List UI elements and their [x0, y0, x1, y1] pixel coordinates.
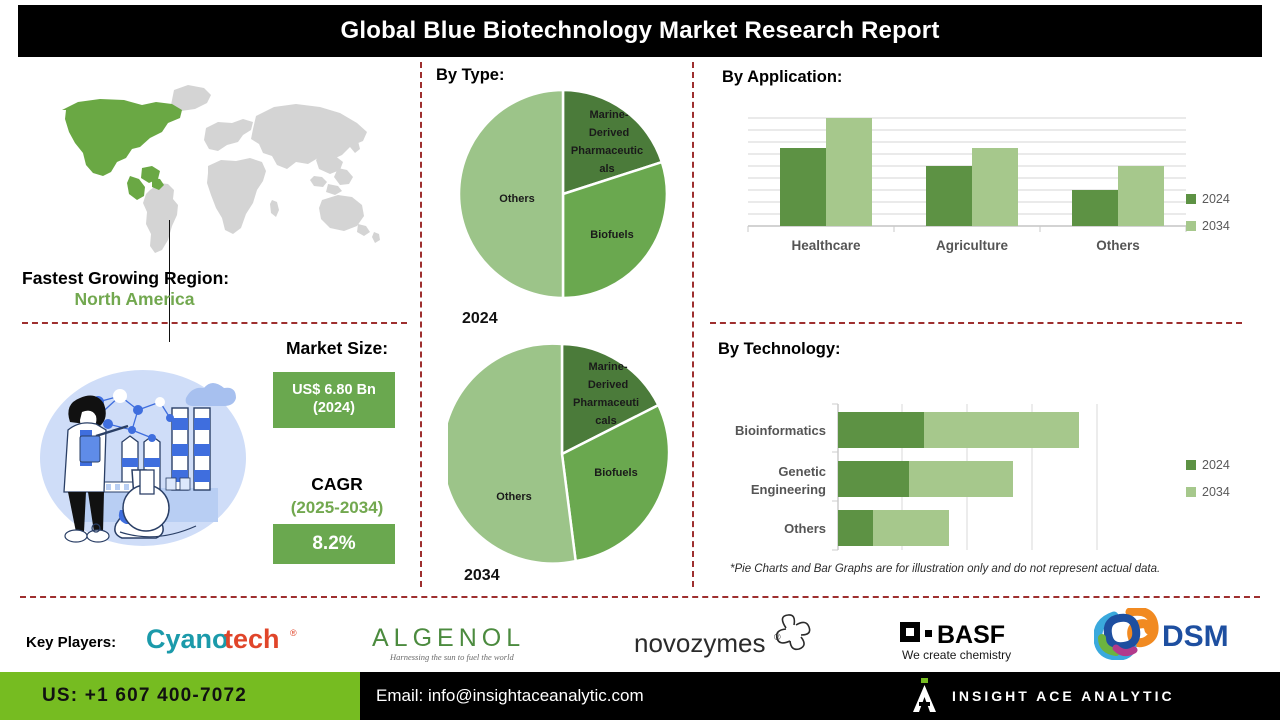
cagr-years: (2025-2034)	[262, 498, 412, 518]
divider-right-horizontal	[710, 322, 1242, 324]
legend-item-2034: 2034	[1186, 485, 1230, 499]
cat-label-healthcare: Healthcare	[791, 238, 861, 253]
pie-label-marine-4: als	[599, 163, 614, 175]
world-map	[22, 72, 402, 267]
logo-dsm: DSM	[1094, 608, 1264, 660]
logo-cyanotech-tm: ®	[290, 628, 297, 638]
bar-bioinformatics-2024	[838, 412, 924, 448]
market-size-year: (2024)	[292, 400, 376, 418]
logo-basf: BASF We create chemistry	[900, 618, 1040, 664]
cat-label-genetic-2: Engineering	[751, 482, 826, 497]
cagr-value-box: 8.2%	[273, 524, 395, 564]
cat-label-genetic-1: Genetic	[778, 464, 826, 479]
pie-label-marine-2: Derived	[588, 379, 628, 391]
application-chart-legend: 2024 2034	[1186, 192, 1230, 246]
legend-swatch-2034	[1186, 487, 1196, 497]
bar-genetic-engineering-2034	[909, 461, 1013, 497]
cat-label-bioinformatics: Bioinformatics	[735, 423, 826, 438]
novozymes-mark-icon	[777, 615, 810, 649]
divider-vertical-2	[692, 62, 694, 587]
pie-label-marine-3: Pharmaceutic	[571, 145, 643, 157]
logo-novozymes-name: novozymes	[634, 628, 766, 658]
infographic-page: Global Blue Biotechnology Market Researc…	[0, 0, 1280, 720]
legend-item-2024: 2024	[1186, 458, 1230, 472]
logo-basf-tagline: We create chemistry	[902, 648, 1011, 662]
pie-chart-2034: Marine- Derived Pharmaceuti cals Biofuel…	[448, 340, 676, 568]
cat-label-agriculture: Agriculture	[936, 238, 1009, 253]
market-size-title: Market Size:	[262, 338, 412, 359]
logo-cyanotech: Cyano tech ®	[146, 622, 316, 658]
bar-others-2024	[838, 510, 873, 546]
pie-slice-others	[448, 344, 576, 564]
bar-healthcare-2034	[826, 118, 872, 226]
bar-others-2034	[1118, 166, 1164, 226]
footer-phone: US: +1 607 400-7072	[0, 685, 247, 707]
logo-novozymes: novozymes ®	[634, 614, 814, 660]
bar-bioinformatics-2034	[924, 412, 1079, 448]
application-column-chart: Healthcare Agriculture Others	[716, 100, 1236, 260]
by-technology-title: By Technology:	[718, 340, 841, 359]
pie-label-others: Others	[499, 193, 534, 205]
by-application-title: By Application:	[722, 68, 842, 87]
fastest-growing-region: Fastest Growing Region: North America	[22, 268, 402, 310]
footer-email[interactable]: Email: info@insightaceanalytic.com	[360, 686, 644, 706]
footer-bar: US: +1 607 400-7072 Email: info@insighta…	[0, 672, 1280, 720]
legend-swatch-2024	[1186, 460, 1196, 470]
logo-algenol-name: ALGENOL	[372, 624, 525, 652]
pie-2024-year: 2024	[462, 310, 498, 328]
divider-bottom-horizontal	[20, 596, 1260, 598]
region-caption: Fastest Growing Region:	[22, 268, 402, 289]
footer-brand-block: INSIGHT ACE ANALYTIC	[910, 672, 1280, 720]
bar-healthcare-2024	[780, 148, 826, 226]
logo-cyanotech-part2: tech	[224, 624, 280, 654]
pie-chart-2024: Marine- Derived Pharmaceutic als Biofuel…	[455, 86, 671, 302]
footer-phone-block: US: +1 607 400-7072	[0, 672, 360, 720]
legend-label-2034: 2034	[1202, 219, 1230, 233]
laboratory-illustration	[36, 360, 251, 555]
logo-dsm-name: DSM	[1162, 620, 1229, 653]
bar-agriculture-2034	[972, 148, 1018, 226]
legend-label-2024: 2024	[1202, 192, 1230, 206]
market-size-value: US$ 6.80 Bn	[292, 382, 376, 400]
legend-item-2034: 2034	[1186, 219, 1230, 233]
divider-vertical-1	[420, 62, 422, 587]
bar-others-2034	[873, 510, 949, 546]
market-size-value-box: US$ 6.80 Bn (2024)	[273, 372, 395, 428]
legend-label-2034: 2034	[1202, 485, 1230, 499]
insight-ace-logo-icon	[910, 678, 940, 714]
pie-label-biofuels: Biofuels	[590, 229, 633, 241]
by-type-title: By Type:	[436, 66, 504, 85]
header-bar: Global Blue Biotechnology Market Researc…	[18, 5, 1262, 57]
cat-label-others: Others	[784, 521, 826, 536]
legend-swatch-2024	[1186, 194, 1196, 204]
technology-chart-legend: 2024 2034	[1186, 458, 1230, 512]
divider-left-horizontal	[22, 322, 407, 324]
logo-cyanotech-part1: Cyano	[146, 624, 229, 654]
footer-email-block: Email: info@insightaceanalytic.com	[360, 672, 910, 720]
technology-bar-chart: Bioinformatics Genetic Engineering Other…	[716, 390, 1236, 550]
bar-agriculture-2024	[926, 166, 972, 226]
legend-label-2024: 2024	[1202, 458, 1230, 472]
pie-label-others: Others	[496, 491, 531, 503]
page-title: Global Blue Biotechnology Market Researc…	[340, 17, 939, 45]
pie-label-biofuels: Biofuels	[594, 467, 637, 479]
pie-label-marine-1: Marine-	[588, 361, 627, 373]
pie-2034-year: 2034	[464, 567, 500, 585]
pie-label-marine-2: Derived	[589, 127, 629, 139]
region-name: North America	[22, 289, 247, 310]
cagr-value: 8.2%	[312, 532, 355, 555]
cagr-title: CAGR	[262, 474, 412, 495]
key-players-label: Key Players:	[26, 634, 116, 651]
pie-label-marine-3: Pharmaceuti	[573, 397, 639, 409]
footer-brand-name: INSIGHT ACE ANALYTIC	[952, 688, 1175, 704]
logo-algenol-tagline: Harnessing the sun to fuel the world	[389, 652, 514, 662]
bar-genetic-engineering-2024	[838, 461, 909, 497]
legend-swatch-2034	[1186, 221, 1196, 231]
logo-basf-name: BASF	[937, 621, 1005, 649]
logo-algenol: ALGENOL Harnessing the sun to fuel the w…	[372, 622, 572, 664]
pie-label-marine-1: Marine-	[589, 109, 628, 121]
dsm-swirl-icon	[1098, 611, 1154, 656]
pie-label-marine-4: cals	[595, 415, 616, 427]
cat-label-others: Others	[1096, 238, 1140, 253]
chart-disclaimer: *Pie Charts and Bar Graphs are for illus…	[730, 563, 1160, 575]
bar-others-2024	[1072, 190, 1118, 226]
legend-item-2024: 2024	[1186, 192, 1230, 206]
